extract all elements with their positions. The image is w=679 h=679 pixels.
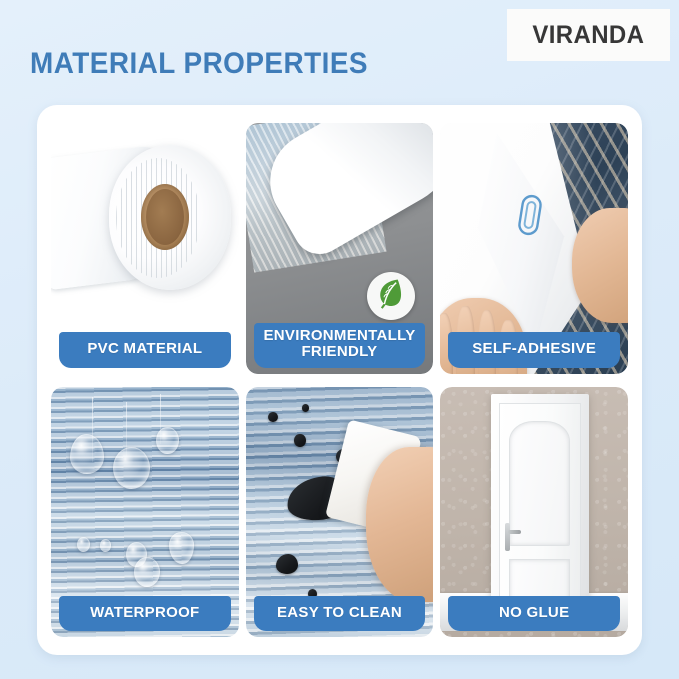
card-label-line1: ENVIRONMENTALLY — [263, 327, 415, 344]
door-panel-top — [509, 421, 570, 547]
water-droplet — [113, 447, 151, 490]
feature-grid: PVC MATERIAL — [51, 123, 628, 637]
water-droplet — [134, 557, 160, 587]
card-label-easy-to-clean: EASY TO CLEAN — [254, 596, 426, 631]
stain-spot — [268, 412, 277, 422]
card-label-waterproof: WATERPROOF — [59, 596, 231, 631]
feature-card-pvc-material[interactable]: PVC MATERIAL — [51, 123, 239, 374]
water-droplet — [70, 434, 104, 474]
door-leaf — [499, 403, 581, 615]
brand-logo: VIRANDA — [507, 9, 670, 61]
hand-holding-sponge — [366, 447, 434, 602]
card-label-environmentally-friendly: ENVIRONMENTALLY FRIENDLY — [254, 323, 426, 367]
water-droplet — [77, 537, 90, 552]
water-droplet — [156, 427, 179, 455]
stain-spot — [302, 404, 310, 412]
feature-card-no-glue[interactable]: NO GLUE — [440, 387, 628, 638]
stain-spot — [276, 554, 299, 574]
roll-cardboard-core — [141, 184, 189, 250]
vinyl-roll-illustration — [53, 145, 235, 295]
brand-logo-text: VIRANDA — [532, 21, 644, 50]
feature-card-waterproof[interactable]: WATERPROOF — [51, 387, 239, 638]
door-handle — [505, 523, 510, 551]
water-droplet — [169, 532, 193, 565]
card-label-no-glue: NO GLUE — [448, 596, 620, 631]
card-label-self-adhesive: SELF-ADHESIVE — [448, 332, 620, 367]
card-label-pvc-material: PVC MATERIAL — [59, 332, 231, 367]
feature-card-self-adhesive[interactable]: SELF-ADHESIVE — [440, 123, 628, 374]
water-droplet — [100, 539, 111, 552]
feature-card-easy-to-clean[interactable]: EASY TO CLEAN — [246, 387, 434, 638]
stain-spot — [294, 434, 305, 447]
door-frame — [491, 394, 589, 614]
feature-panel: PVC MATERIAL — [37, 105, 642, 655]
card-label-line2: FRIENDLY — [301, 343, 377, 360]
leaf-icon — [367, 272, 415, 320]
page-header: MATERIAL PROPERTIES VIRANDA — [0, 0, 679, 105]
feature-card-environmentally-friendly[interactable]: ENVIRONMENTALLY FRIENDLY — [246, 123, 434, 374]
page-title: MATERIAL PROPERTIES — [30, 47, 368, 81]
